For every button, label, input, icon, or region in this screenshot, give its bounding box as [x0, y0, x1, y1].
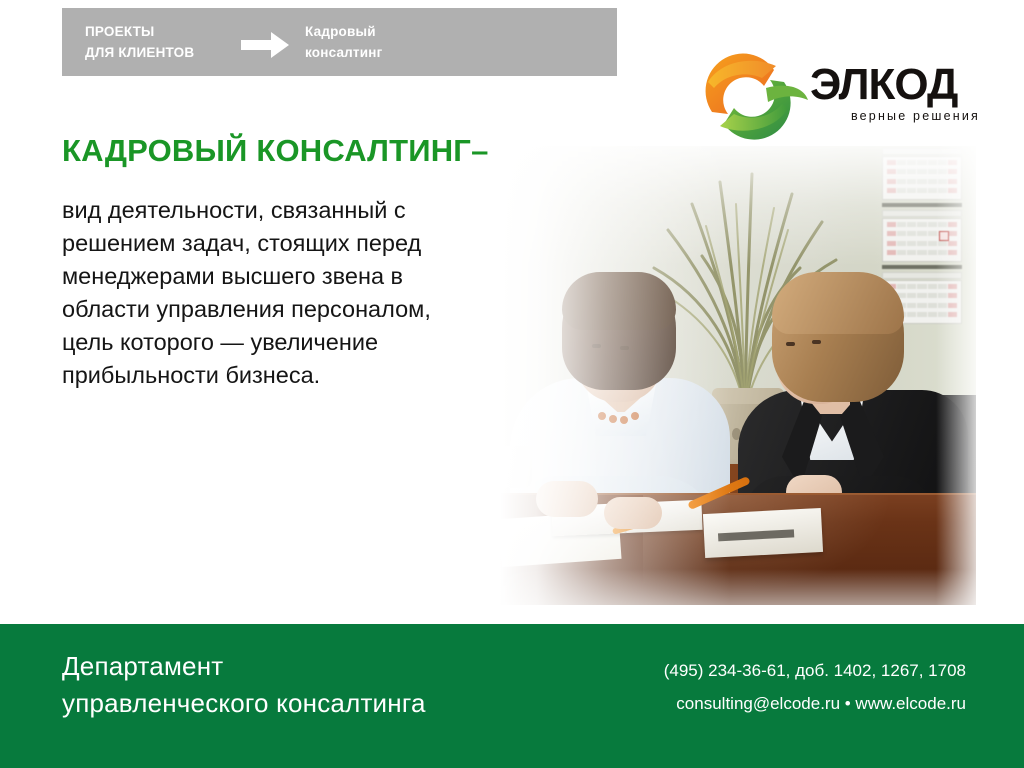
phone-number: (495) 234-36-61, доб. 1402, 1267, 1708	[664, 654, 966, 687]
hand-left-woman	[536, 481, 598, 517]
header-left-label: ПРОЕКТЫ ДЛЯ КЛИЕНТОВ	[85, 21, 235, 63]
header-right-line2: консалтинг	[305, 42, 382, 63]
body-paragraph: вид деятельности, связанный с решением з…	[62, 194, 482, 392]
mug	[500, 446, 532, 488]
office-photo	[500, 146, 976, 605]
logo-word: ЭЛКОД	[810, 62, 980, 108]
header-right-label: Кадровый консалтинг	[305, 21, 382, 63]
calendar-block	[882, 210, 962, 262]
header-right-line1: Кадровый	[305, 21, 382, 42]
woman-dark-suit-hair-top	[772, 272, 904, 334]
department-line1: Департамент	[62, 648, 426, 685]
woman-white-blouse-hair-front	[562, 272, 676, 330]
beaded-necklace	[598, 408, 642, 424]
contact-info: (495) 234-36-61, доб. 1402, 1267, 1708 c…	[664, 654, 966, 720]
elcode-wordmark: ЭЛКОД верные решения	[810, 62, 980, 123]
calendar-block	[882, 148, 962, 200]
footer-bar: Департамент управленческого консалтинга …	[0, 624, 1024, 768]
department-name: Департамент управленческого консалтинга	[62, 648, 426, 722]
elcode-logo: ЭЛКОД верные решения	[688, 52, 980, 144]
notebook	[703, 508, 823, 558]
header-left-line2: ДЛЯ КЛИЕНТОВ	[85, 42, 235, 63]
elcode-swoosh-icon	[688, 52, 810, 140]
department-line2: управленческого консалтинга	[62, 685, 426, 722]
arrow-right-icon	[239, 28, 291, 62]
calendar-date-marker	[939, 231, 949, 241]
header-banner: ПРОЕКТЫ ДЛЯ КЛИЕНТОВ Кадровый консалтинг	[62, 8, 617, 76]
photo-scene	[500, 146, 976, 605]
slide: ПРОЕКТЫ ДЛЯ КЛИЕНТОВ Кадровый консалтинг	[0, 0, 1024, 768]
hand-left-woman-second	[604, 497, 662, 529]
header-left-line1: ПРОЕКТЫ	[85, 21, 235, 42]
email-and-website[interactable]: consulting@elcode.ru • www.elcode.ru	[664, 687, 966, 720]
logo-tagline: верные решения	[810, 109, 980, 123]
